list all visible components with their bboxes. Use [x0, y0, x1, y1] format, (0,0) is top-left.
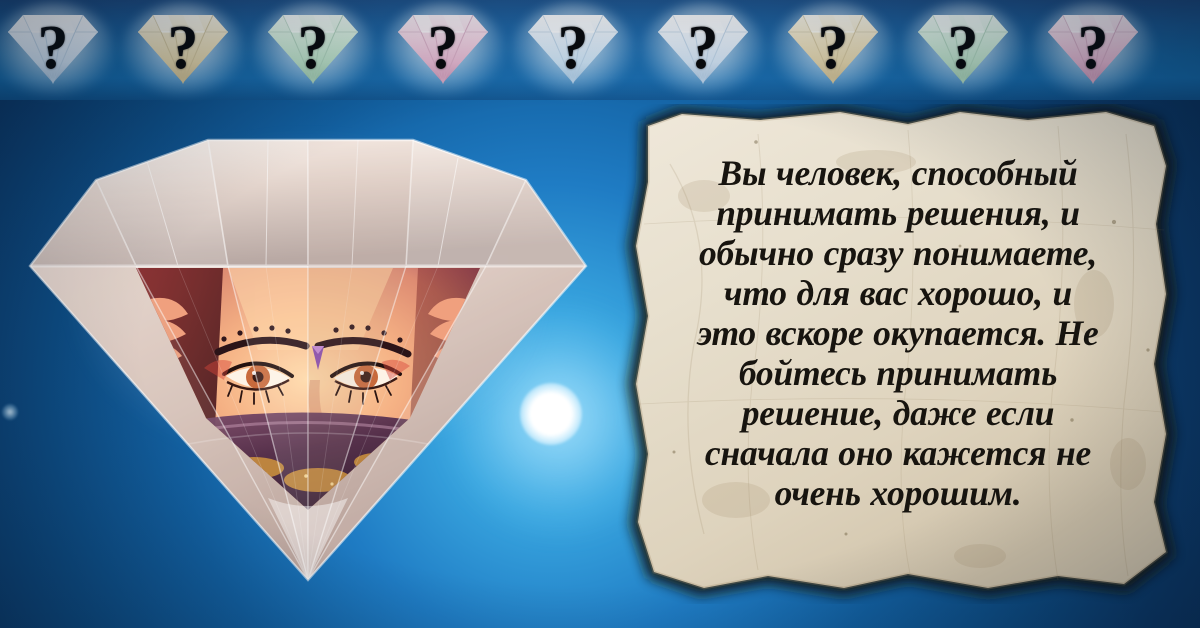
diamond-question-icon-3[interactable]: ?	[255, 6, 371, 92]
quote-line-3: обычно сразу понимаете,	[636, 234, 1160, 274]
large-diamond-with-mystic-woman	[18, 118, 598, 588]
quote-text: Вы человек, способный принимать решения,…	[636, 154, 1160, 513]
diamond-question-icon-2[interactable]: ?	[125, 6, 241, 92]
quote-line-2: принимать решения, и	[636, 194, 1160, 234]
quote-line-4: что для вас хорошо, и	[636, 274, 1160, 314]
quote-line-1: Вы человек, способный	[636, 154, 1160, 194]
diamond-question-icon-6[interactable]: ?	[645, 6, 761, 92]
quote-line-5: это вскоре окупается. Не	[636, 314, 1160, 354]
diamond-question-icon-1[interactable]: ?	[0, 6, 111, 92]
question-mark-glyph: ?	[515, 17, 631, 79]
diamond-illustration	[18, 118, 598, 588]
diamond-question-icon-9[interactable]: ?	[1035, 6, 1151, 92]
diamond-question-icon-4[interactable]: ?	[385, 6, 501, 92]
question-mark-glyph: ?	[385, 17, 501, 79]
diamond-question-icon-5[interactable]: ?	[515, 6, 631, 92]
diamond-question-icon-7[interactable]: ?	[775, 6, 891, 92]
question-mark-glyph: ?	[0, 17, 111, 79]
question-mark-glyph: ?	[255, 17, 371, 79]
question-mark-glyph: ?	[1035, 17, 1151, 79]
question-mark-glyph: ?	[125, 17, 241, 79]
diamond-question-row: ? ?	[0, 0, 1200, 100]
diamond-question-icon-8[interactable]: ?	[905, 6, 1021, 92]
quote-line-9: очень хорошим.	[636, 474, 1160, 514]
quiz-result-card: ? ?	[0, 0, 1200, 628]
quote-line-7: решение, даже если	[636, 394, 1160, 434]
question-mark-glyph: ?	[645, 17, 761, 79]
quote-line-8: сначала оно кажется не	[636, 434, 1160, 474]
quote-line-6: бойтесь принимать	[636, 354, 1160, 394]
parchment-quote-panel: Вы человек, способный принимать решения,…	[608, 104, 1188, 604]
question-mark-glyph: ?	[775, 17, 891, 79]
question-mark-glyph: ?	[905, 17, 1021, 79]
